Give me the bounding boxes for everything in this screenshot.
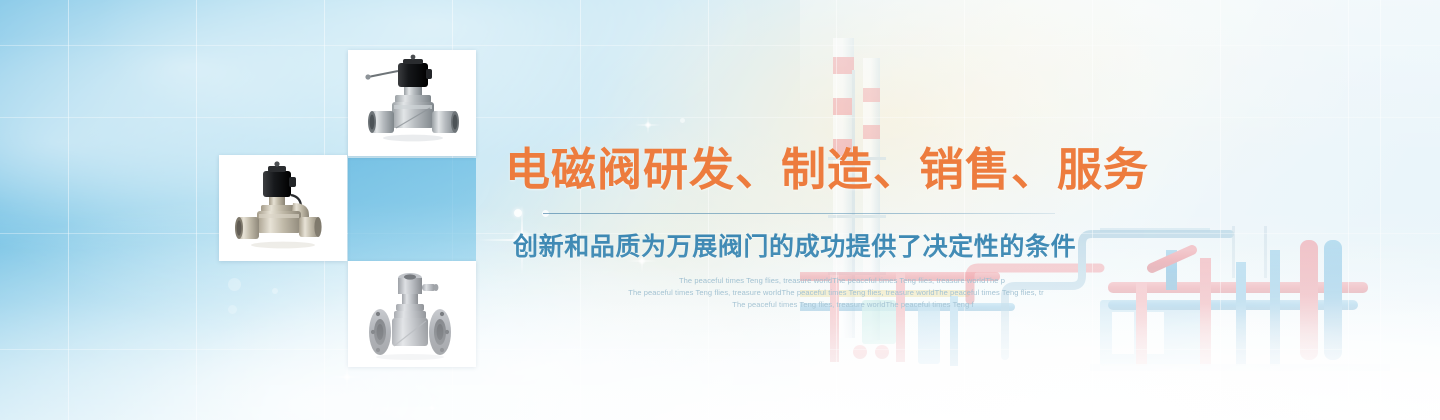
hero-banner: 电磁阀研发、制造、销售、服务 创新和品质为万展阀门的成功提供了决定性的条件 Th… [0,0,1440,420]
bottom-haze-overlay [0,0,1440,420]
